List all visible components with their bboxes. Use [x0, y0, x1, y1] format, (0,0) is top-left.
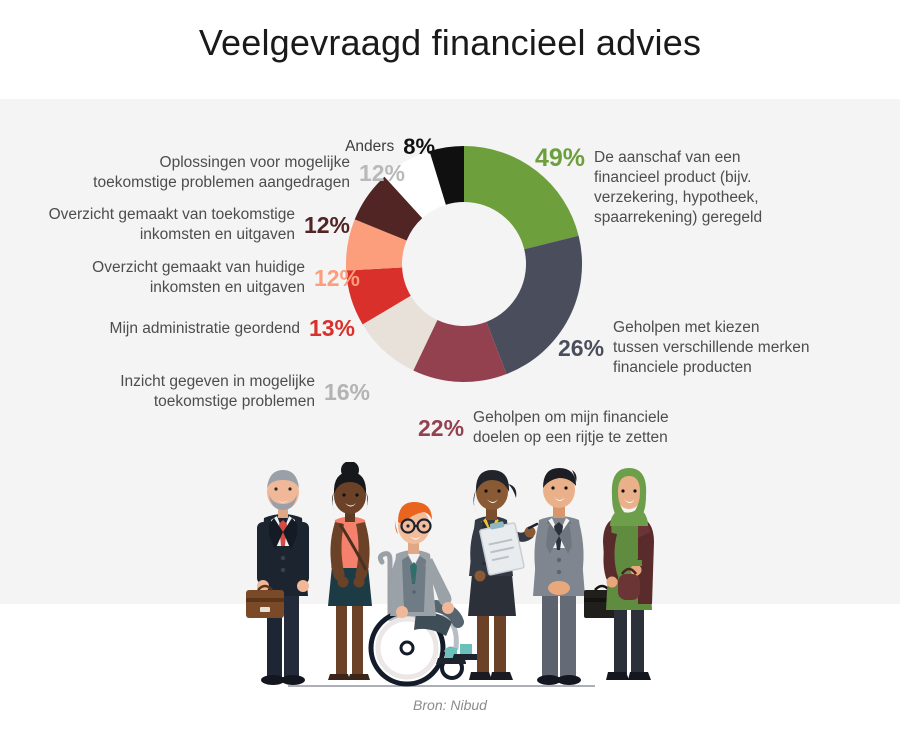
callout-oplossingen-text: Oplossingen voor mogelijke toekomstige p…: [93, 153, 350, 193]
figure-wheelchair-man: [371, 502, 482, 684]
callout-merken-text: Geholpen met kiezen tussen verschillende…: [613, 318, 809, 378]
callout-administratie-percent: 13%: [309, 315, 355, 342]
callout-merken: 26% Geholpen met kiezen tussen verschill…: [558, 318, 898, 378]
infographic-page: Veelgevraagd financieel advies: [0, 0, 900, 730]
callout-aanschaf-percent: 49%: [535, 148, 585, 168]
callout-overzicht-toekomstige: Overzicht gemaakt van toekomstige inkoms…: [20, 205, 350, 245]
callout-anders-percent: 8%: [403, 134, 435, 160]
callout-merken-percent: 26%: [558, 335, 604, 362]
figure-businessman: [246, 470, 309, 685]
callout-oplossingen: Oplossingen voor mogelijke toekomstige p…: [20, 153, 405, 193]
callout-administratie-text: Mijn administratie geordend: [110, 319, 300, 339]
callout-inzicht-text: Inzicht gegeven in mogelijke toekomstige…: [120, 372, 315, 412]
figure-woman-hijab: [603, 468, 654, 680]
callout-doelen-percent: 22%: [418, 415, 464, 442]
people-illustration: [240, 462, 670, 692]
page-title: Veelgevraagd financieel advies: [0, 22, 900, 64]
callout-overzicht-huidige: Overzicht gemaakt van huidige inkomsten …: [20, 258, 360, 298]
callout-administratie: Mijn administratie geordend 13%: [20, 315, 355, 342]
source-note: Bron: Nibud: [0, 697, 900, 713]
figure-woman-coral: [328, 462, 372, 680]
callout-overzicht-toekomstige-percent: 12%: [304, 212, 350, 239]
callout-oplossingen-percent: 12%: [359, 160, 405, 187]
callout-aanschaf-text: De aanschaf van een financieel product (…: [594, 148, 762, 228]
callout-inzicht: Inzicht gegeven in mogelijke toekomstige…: [20, 372, 370, 412]
callout-overzicht-toekomstige-text: Overzicht gemaakt van toekomstige inkoms…: [49, 205, 295, 245]
callout-aanschaf: 49% De aanschaf van een financieel produ…: [535, 148, 895, 228]
callout-overzicht-huidige-text: Overzicht gemaakt van huidige inkomsten …: [92, 258, 305, 298]
callout-doelen: 22% Geholpen om mijn financiele doelen o…: [418, 408, 718, 448]
callout-overzicht-huidige-percent: 12%: [314, 265, 360, 292]
callout-doelen-text: Geholpen om mijn financiele doelen op ee…: [473, 408, 669, 448]
figure-woman-clipboard: [468, 470, 537, 680]
callout-inzicht-percent: 16%: [324, 379, 370, 406]
